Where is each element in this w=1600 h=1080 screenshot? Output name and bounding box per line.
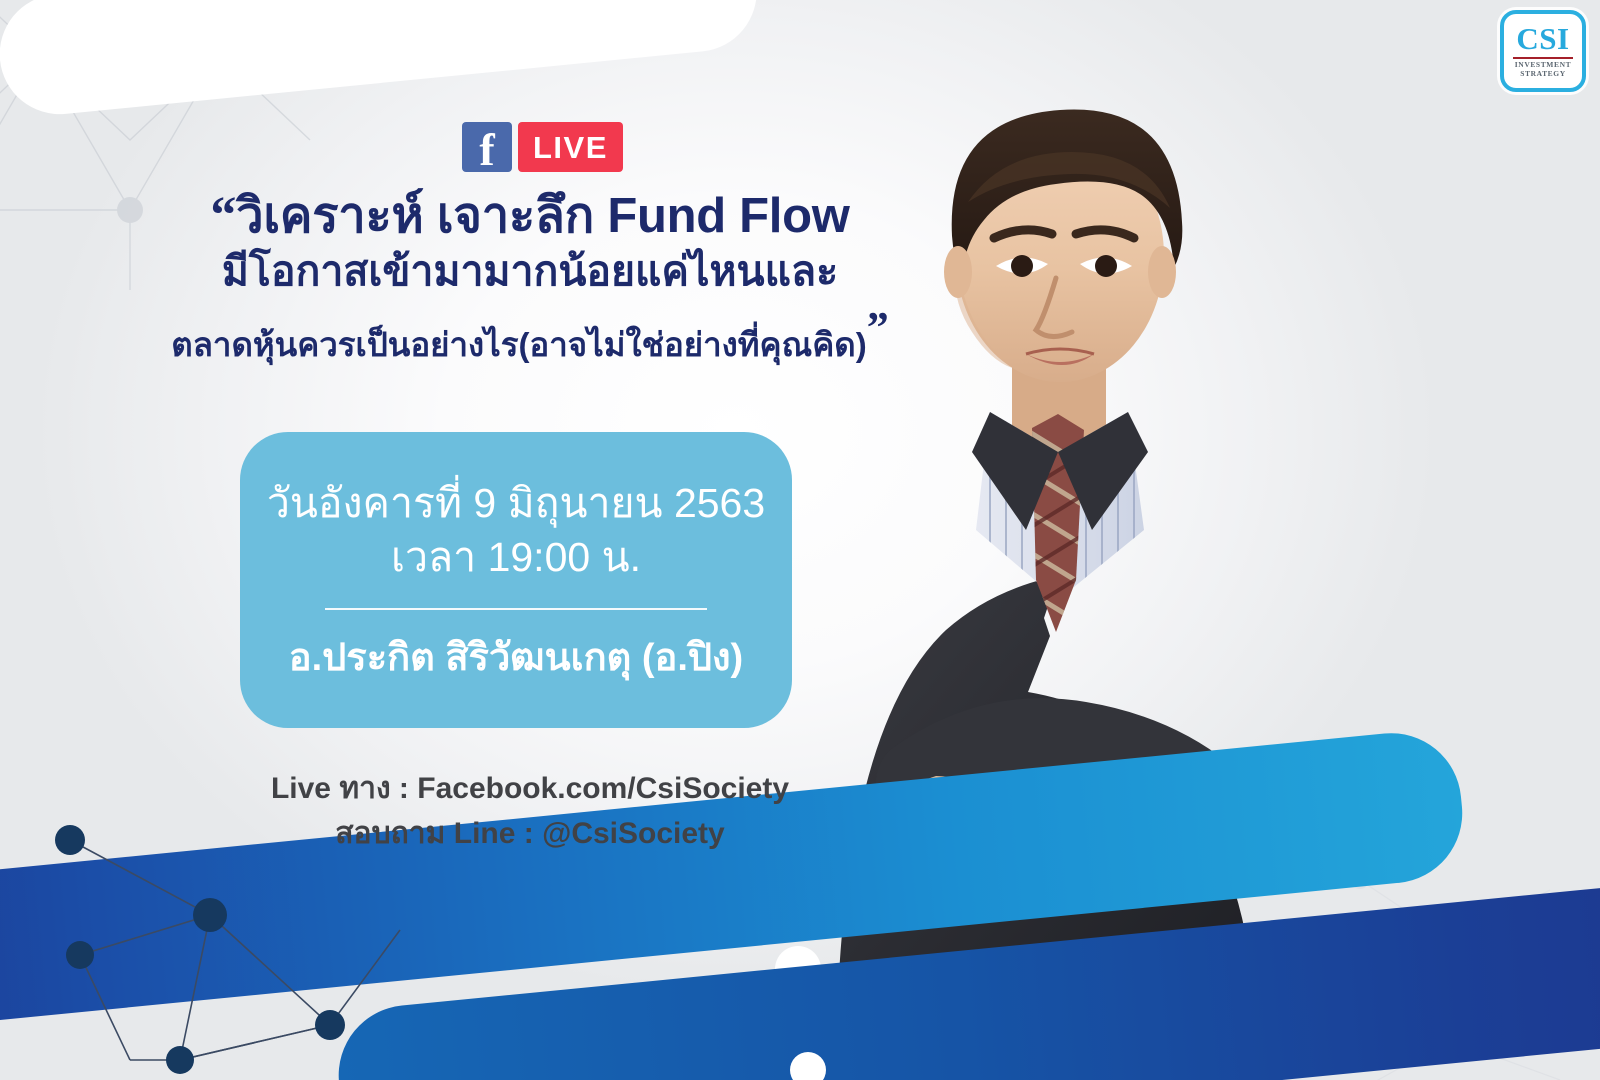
- contact-facebook: Live ทาง : Facebook.com/CsiSociety: [150, 766, 910, 811]
- contact-line-id: สอบถาม Line : @CsiSociety: [150, 811, 910, 856]
- live-badge: LIVE: [518, 122, 623, 172]
- event-speaker: อ.ประกิต สิริวัฒนเกตุ (อ.ปิง): [289, 636, 743, 682]
- event-time: เวลา 19:00 น.: [391, 532, 641, 584]
- contact-block: Live ทาง : Facebook.com/CsiSociety สอบถา…: [150, 766, 910, 856]
- facebook-icon: f: [462, 122, 512, 172]
- event-date: วันอังคารที่ 9 มิถุนายน 2563: [267, 478, 765, 530]
- logo-divider: [1513, 57, 1573, 59]
- live-label: LIVE: [533, 132, 608, 163]
- event-info-card: วันอังคารที่ 9 มิถุนายน 2563 เวลา 19:00 …: [240, 432, 792, 728]
- promo-poster: CSI INVESTMENT STRATEGY f LIVE “วิเคราะห…: [0, 0, 1600, 1080]
- headline-line-2: มีโอกาสเข้ามามากน้อยแค่ไหนและ: [150, 247, 910, 296]
- logo-tagline: INVESTMENT STRATEGY: [1515, 61, 1571, 78]
- quote-open: “: [210, 187, 236, 244]
- csi-logo: CSI INVESTMENT STRATEGY: [1500, 10, 1586, 92]
- headline-line-3-text: ตลาดหุ้นควรเป็นอย่างไร(อาจไม่ใช่อย่างที่…: [171, 326, 866, 363]
- headline-line-1: “วิเคราะห์ เจาะลึก Fund Flow: [150, 186, 910, 245]
- facebook-f-glyph: f: [479, 127, 494, 172]
- headline-line-1-text: วิเคราะห์ เจาะลึก Fund Flow: [236, 189, 849, 243]
- quote-close: ”: [867, 303, 889, 352]
- logo-wordmark: CSI: [1516, 23, 1569, 54]
- logo-tagline-line2: STRATEGY: [1520, 69, 1566, 78]
- facebook-live-badge: f LIVE: [462, 122, 623, 172]
- headline-line-3: ตลาดหุ้นควรเป็นอย่างไร(อาจไม่ใช่อย่างที่…: [150, 302, 910, 365]
- card-divider: [325, 608, 707, 610]
- headline-block: “วิเคราะห์ เจาะลึก Fund Flow มีโอกาสเข้า…: [150, 186, 910, 365]
- dot-decoration-secondary: [790, 1052, 826, 1080]
